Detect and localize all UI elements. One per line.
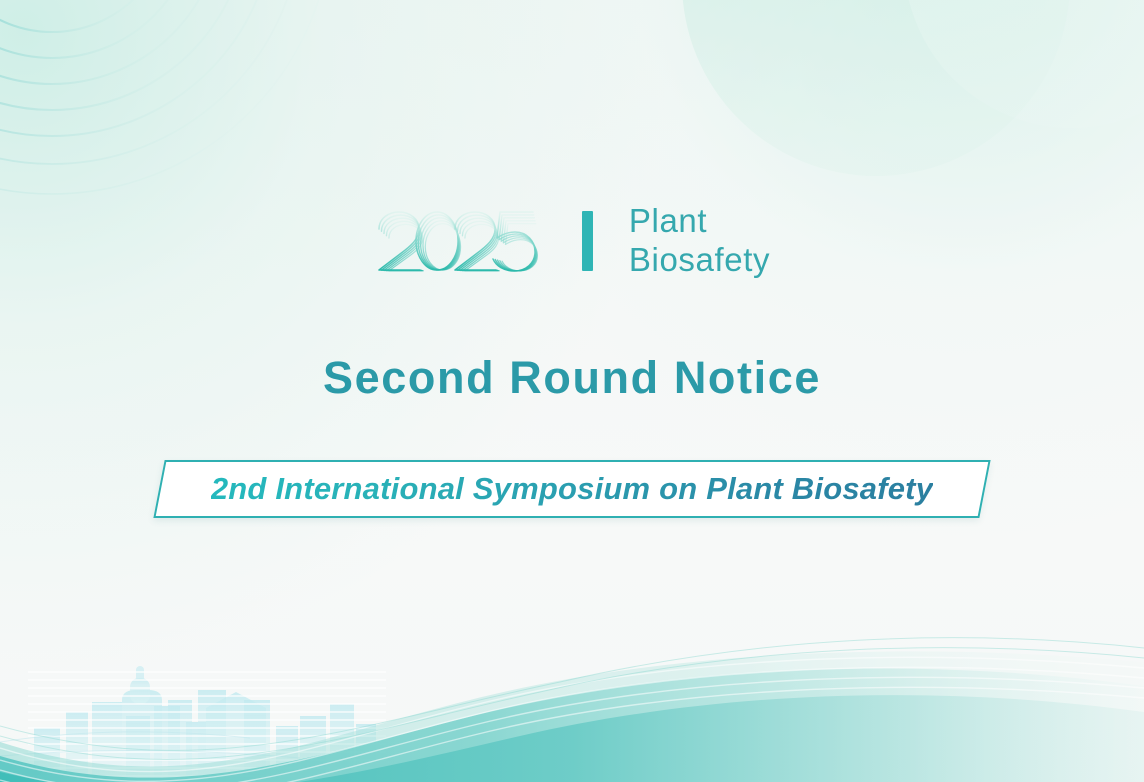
logo-line-plant: Plant: [629, 202, 770, 241]
poster-canvas: Plant Biosafety Second Round Notice 2nd …: [0, 0, 1144, 782]
logo-divider-bar: [582, 211, 593, 271]
logo-wordmark: Plant Biosafety: [629, 202, 770, 280]
year-2025-logo-icon: [374, 198, 540, 284]
banner-label: 2nd International Symposium on Plant Bio…: [211, 471, 933, 507]
logo-line-biosafety: Biosafety: [629, 241, 770, 280]
page-title: Second Round Notice: [0, 352, 1144, 404]
event-logo: Plant Biosafety: [0, 198, 1144, 284]
subtitle-banner: 2nd International Symposium on Plant Bio…: [159, 460, 985, 518]
subtitle-banner-wrap: 2nd International Symposium on Plant Bio…: [0, 460, 1144, 518]
poster-content: Plant Biosafety Second Round Notice 2nd …: [0, 0, 1144, 782]
